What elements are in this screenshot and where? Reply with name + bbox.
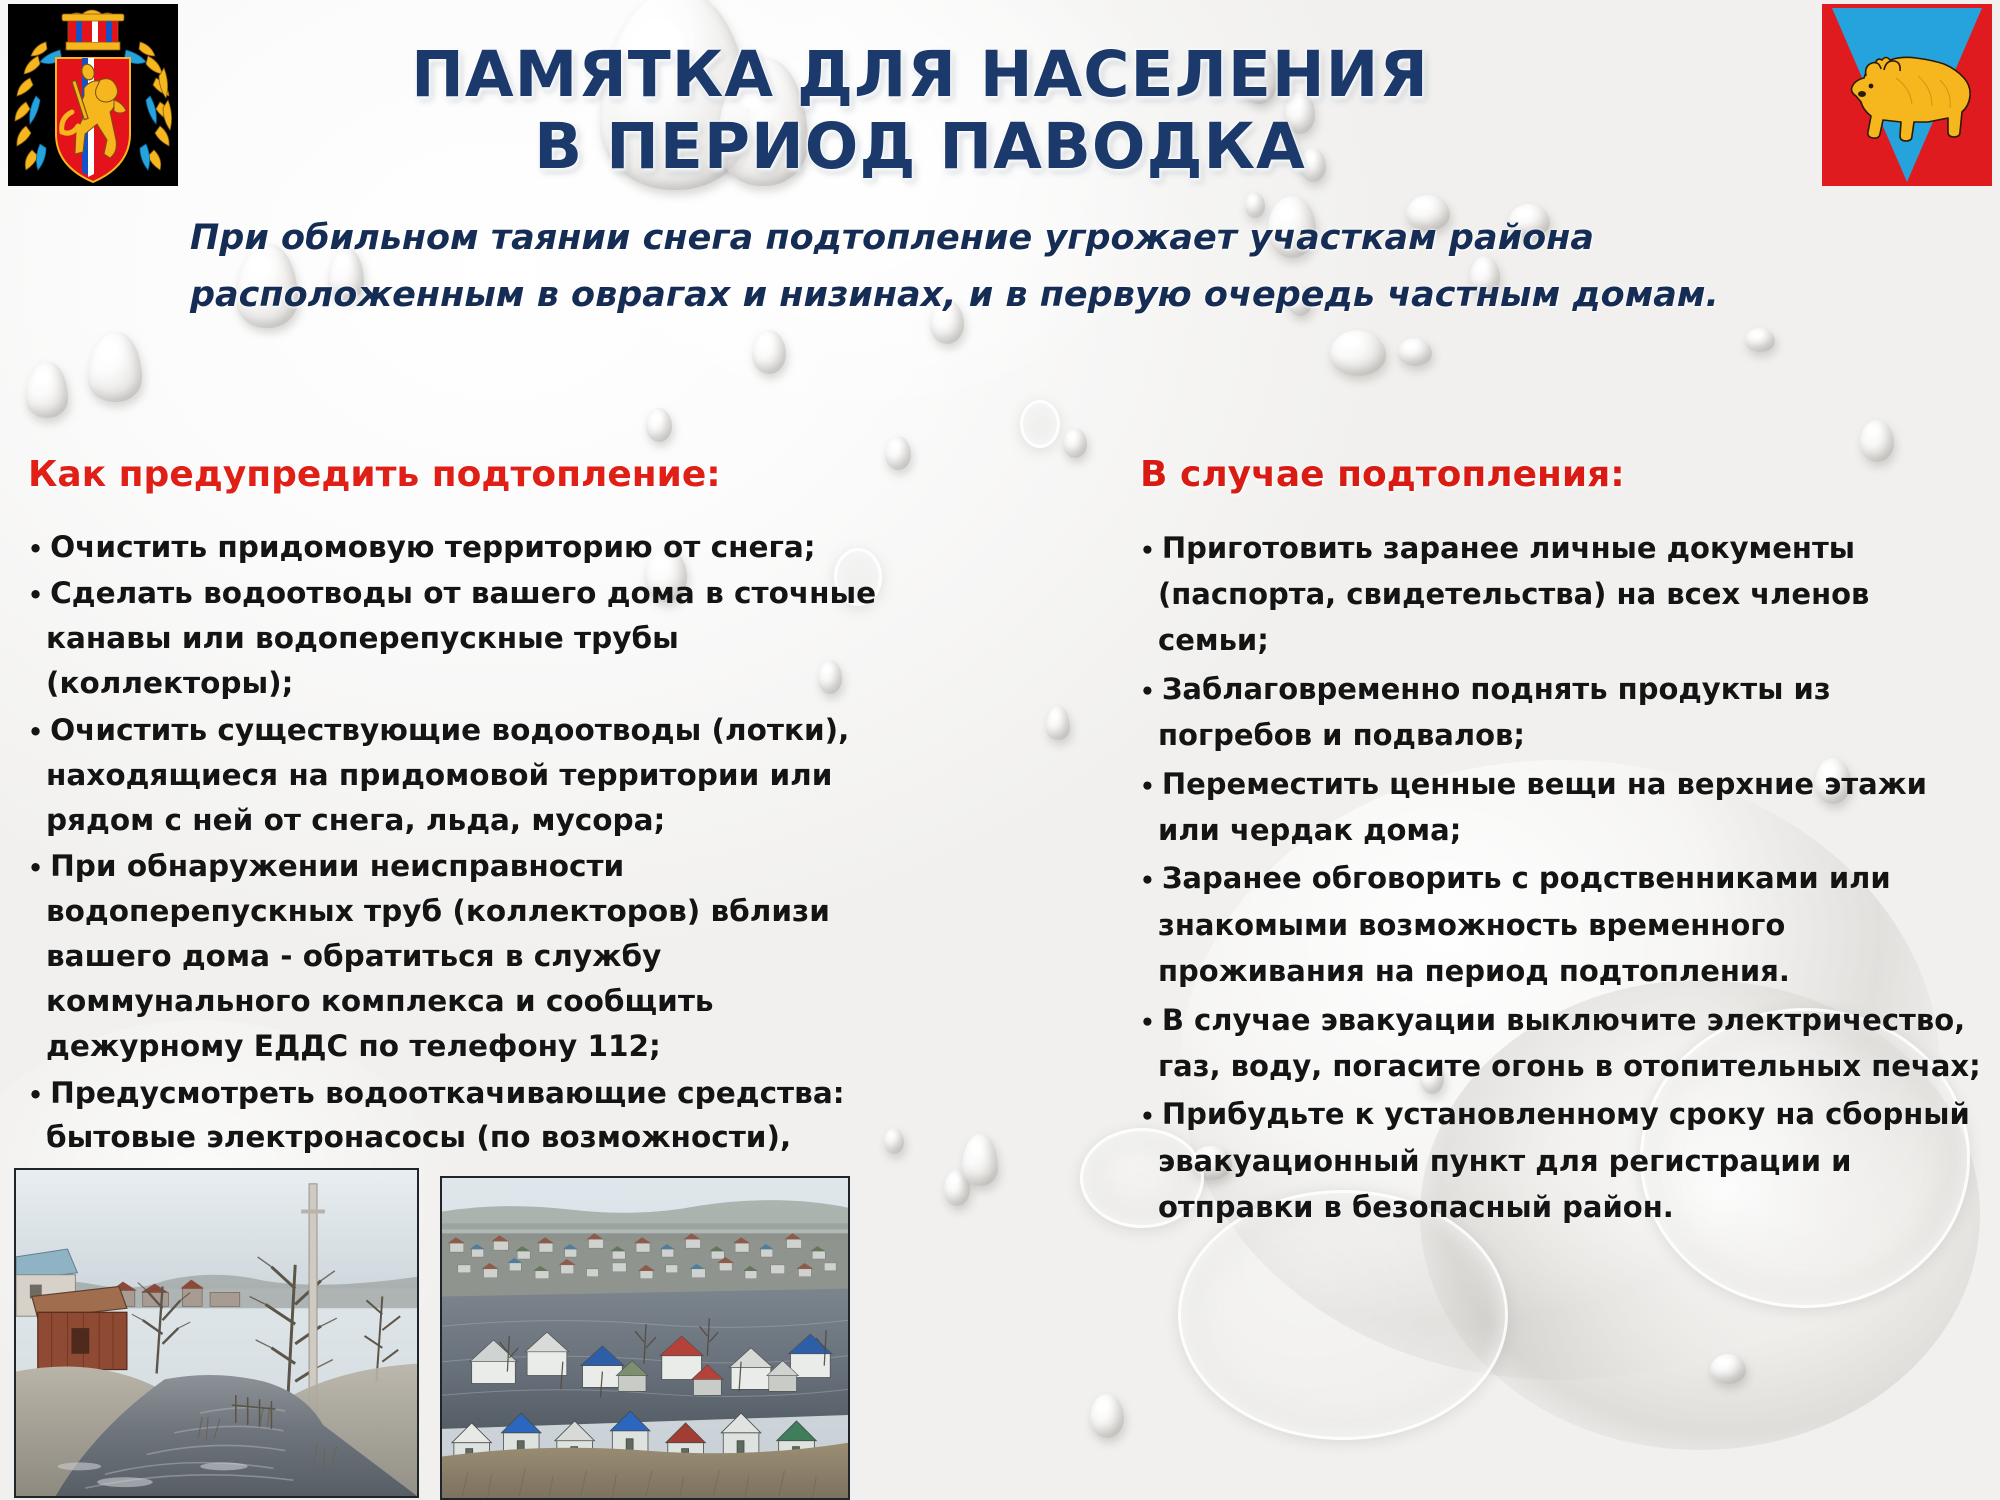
water-droplet-icon [1745, 328, 1775, 352]
response-column: В случае подтопления: Приготовить заране… [1140, 455, 1990, 1232]
water-droplet-icon [1063, 428, 1087, 458]
list-item: Заранее обговорить с родственниками или … [1140, 855, 1990, 994]
prevention-column: Как предупредить подтопление: Очистить п… [28, 455, 908, 1207]
response-list: Приготовить заранее личные документы (па… [1140, 525, 1990, 1231]
list-item: Приготовить заранее личные документы (па… [1140, 525, 1990, 664]
water-droplet-icon [26, 362, 68, 418]
response-heading: В случае подтопления: [1140, 455, 1990, 495]
krasnoyarsk-krai-coat-of-arms-icon [8, 4, 178, 186]
list-item: Очистить существующие водоотводы (лотки)… [28, 708, 908, 842]
water-droplet-icon [1398, 338, 1432, 366]
list-item: Очистить придомовую территорию от снега; [28, 525, 908, 570]
water-droplet-icon [752, 330, 786, 374]
bubble-ring-icon [1020, 400, 1060, 448]
list-item: В случае эвакуации выключите электричест… [1140, 997, 1990, 1090]
page-title: ПАМЯТКА ДЛЯ НАСЕЛЕНИЯ В ПЕРИОД ПАВОДКА [330, 42, 1510, 179]
list-item: Переместить ценные вещи на верхние этажи… [1140, 761, 1990, 854]
bear-coat-of-arms-icon [1822, 4, 1992, 186]
flood-safety-poster: ПАМЯТКА ДЛЯ НАСЕЛЕНИЯ В ПЕРИОД ПАВОДКА П… [0, 0, 2000, 1500]
water-droplet-icon [944, 1170, 970, 1206]
list-item: Сделать водоотводы от вашего дома в сточ… [28, 571, 908, 705]
water-droplet-icon [1330, 330, 1386, 376]
water-droplet-icon [646, 408, 672, 442]
flooded-village-photo [440, 1176, 850, 1500]
prevention-list: Очистить придомовую территорию от снега;… [28, 525, 908, 1205]
title-line-1: ПАМЯТКА ДЛЯ НАСЕЛЕНИЯ [330, 42, 1510, 108]
list-item: Прибудьте к установленному сроку на сбор… [1140, 1091, 1990, 1230]
water-droplet-icon [962, 1134, 998, 1186]
prevention-heading: Как предупредить подтопление: [28, 455, 908, 495]
subtitle-line-1: При обильном таянии снега подтопление уг… [190, 210, 1350, 267]
water-droplet-icon [1046, 706, 1070, 740]
water-droplet-icon [1710, 1354, 1746, 1384]
water-droplet-icon [88, 332, 142, 402]
title-line-2: В ПЕРИОД ПАВОДКА [330, 114, 1510, 180]
water-droplet-icon [1090, 1394, 1124, 1438]
list-item: При обнаружении неисправности водоперепу… [28, 844, 908, 1068]
subtitle: При обильном таянии снега подтопление уг… [190, 210, 1350, 323]
list-item: Заблаговременно поднять продукты из погр… [1140, 666, 1990, 759]
subtitle-line-2: расположенным в оврагах и низинах, и в п… [190, 267, 1350, 324]
flooded-street-photo [14, 1168, 419, 1498]
